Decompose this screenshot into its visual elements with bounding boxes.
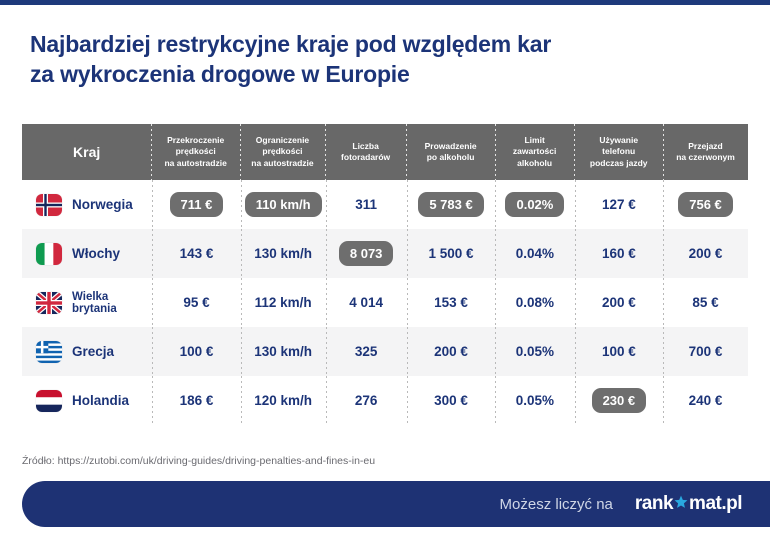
value-cell: 5 783 € <box>407 180 496 229</box>
value-cell: 756 € <box>663 180 748 229</box>
country-name: Grecja <box>72 344 114 359</box>
value-cell: 200 € <box>407 327 496 376</box>
value-cell: 0.02% <box>495 180 574 229</box>
table-row: Grecja100 €130 km/h325200 €0.05%100 €700… <box>22 327 748 376</box>
cell-value: 4 014 <box>349 295 383 310</box>
cell-value: 130 km/h <box>254 246 312 261</box>
cell-value: 0.05% <box>516 344 554 359</box>
cell-value: 276 <box>355 393 378 408</box>
value-cell: 127 € <box>575 180 664 229</box>
country-cell: Norwegia <box>22 180 152 229</box>
cell-value: 200 € <box>689 246 723 261</box>
column-header-4: Prowadzeniepo alkoholu <box>406 124 495 180</box>
flag-uk-icon <box>36 292 62 314</box>
column-header-label: Przejazdna czerwonym <box>676 141 735 164</box>
flag-italy-icon <box>36 243 62 265</box>
cell-value: 200 € <box>434 344 468 359</box>
value-cell: 0.04% <box>495 229 574 278</box>
column-header-7: Przejazdna czerwonym <box>663 124 748 180</box>
value-cell: 8 073 <box>326 229 407 278</box>
logo-text-part1: rank <box>635 493 673 515</box>
cell-value: 100 € <box>180 344 214 359</box>
table-row: Norwegia711 €110 km/h3115 783 €0.02%127 … <box>22 180 748 229</box>
table-header-row: KrajPrzekroczenieprędkościna autostradzi… <box>22 124 748 180</box>
column-header-label: Limitzawartościalkoholu <box>513 135 556 169</box>
value-cell: 112 km/h <box>241 278 326 327</box>
column-header-6: Używanietelefonupodczas jazdy <box>574 124 663 180</box>
highlighted-value: 0.02% <box>505 192 564 217</box>
highlighted-value: 8 073 <box>339 241 394 266</box>
country-name: Wielka brytania <box>72 291 152 315</box>
value-cell: 711 € <box>152 180 241 229</box>
column-header-3: Liczbafotoradarów <box>325 124 406 180</box>
column-header-label: Używanietelefonupodczas jazdy <box>590 135 648 169</box>
value-cell: 160 € <box>575 229 664 278</box>
column-header-5: Limitzawartościalkoholu <box>495 124 574 180</box>
value-cell: 240 € <box>663 376 748 425</box>
cell-value: 160 € <box>602 246 636 261</box>
value-cell: 100 € <box>152 327 241 376</box>
cell-value: 112 km/h <box>255 295 312 310</box>
column-header-label: Ograniczenieprędkościna autostradzie <box>251 135 313 169</box>
flag-norway-icon <box>36 194 62 216</box>
value-cell: 100 € <box>575 327 664 376</box>
cell-value: 300 € <box>434 393 468 408</box>
value-cell: 200 € <box>663 229 748 278</box>
highlighted-value: 711 € <box>170 192 224 217</box>
value-cell: 130 km/h <box>241 327 326 376</box>
footer-bar: Możesz liczyć na rank mat.pl <box>22 481 770 527</box>
cell-value: 0.04% <box>516 246 554 261</box>
value-cell: 276 <box>326 376 407 425</box>
page-title-line2: za wykroczenia drogowe w Europie <box>30 60 730 90</box>
value-cell: 95 € <box>152 278 241 327</box>
cell-value: 143 € <box>180 246 214 261</box>
column-header-2: Ograniczenieprędkościna autostradzie <box>240 124 325 180</box>
cell-value: 1 500 € <box>428 246 473 261</box>
column-header-1: Przekroczenieprędkościna autostradzie <box>151 124 240 180</box>
cell-value: 186 € <box>180 393 214 408</box>
cell-value: 85 € <box>692 295 718 310</box>
value-cell: 300 € <box>407 376 496 425</box>
country-cell: Holandia <box>22 376 152 425</box>
cell-value: 0.05% <box>516 393 554 408</box>
page-title: Najbardziej restrykcyjne kraje pod wzglę… <box>30 30 730 90</box>
value-cell: 110 km/h <box>241 180 326 229</box>
highlighted-value: 230 € <box>592 388 647 413</box>
table-row: Włochy143 €130 km/h8 0731 500 €0.04%160 … <box>22 229 748 278</box>
highlighted-value: 756 € <box>678 192 733 217</box>
value-cell: 143 € <box>152 229 241 278</box>
value-cell: 153 € <box>407 278 496 327</box>
column-header-label: Przekroczenieprędkościna autostradzie <box>164 135 226 169</box>
value-cell: 230 € <box>575 376 664 425</box>
table-body: Norwegia711 €110 km/h3115 783 €0.02%127 … <box>22 180 748 425</box>
cell-value: 325 <box>355 344 378 359</box>
value-cell: 700 € <box>663 327 748 376</box>
cell-value: 130 km/h <box>254 344 312 359</box>
source-note: Źródło: https://zutobi.com/uk/driving-gu… <box>22 455 375 467</box>
country-name: Holandia <box>72 393 129 408</box>
star-icon <box>674 493 688 515</box>
value-cell: 130 km/h <box>241 229 326 278</box>
highlighted-value: 110 km/h <box>245 192 322 217</box>
value-cell: 1 500 € <box>407 229 496 278</box>
country-cell: Włochy <box>22 229 152 278</box>
highlighted-value: 5 783 € <box>418 192 483 217</box>
cell-value: 127 € <box>602 197 636 212</box>
value-cell: 0.05% <box>495 327 574 376</box>
column-header-label: Kraj <box>73 143 100 162</box>
value-cell: 200 € <box>575 278 664 327</box>
footer-tagline: Możesz liczyć na <box>500 496 613 513</box>
top-accent-bar <box>0 0 770 5</box>
value-cell: 120 km/h <box>241 376 326 425</box>
cell-value: 120 km/h <box>254 393 312 408</box>
cell-value: 311 <box>355 197 377 212</box>
logo-text-part2: mat.pl <box>689 493 742 515</box>
flag-greece-icon <box>36 341 62 363</box>
cell-value: 100 € <box>602 344 636 359</box>
cell-value: 240 € <box>689 393 723 408</box>
column-header-0: Kraj <box>22 124 151 180</box>
country-cell: Grecja <box>22 327 152 376</box>
column-header-label: Liczbafotoradarów <box>341 141 390 164</box>
flag-netherlands-icon <box>36 390 62 412</box>
column-header-label: Prowadzeniepo alkoholu <box>425 141 477 164</box>
cell-value: 95 € <box>183 295 209 310</box>
cell-value: 700 € <box>689 344 723 359</box>
country-name: Norwegia <box>72 197 133 212</box>
value-cell: 85 € <box>663 278 748 327</box>
value-cell: 0.08% <box>495 278 574 327</box>
page-title-line1: Najbardziej restrykcyjne kraje pod wzglę… <box>30 31 551 57</box>
value-cell: 186 € <box>152 376 241 425</box>
rankomat-logo[interactable]: rank mat.pl <box>635 493 742 515</box>
value-cell: 311 <box>326 180 407 229</box>
table-row: Holandia186 €120 km/h276300 €0.05%230 €2… <box>22 376 748 425</box>
table-row: Wielka brytania95 €112 km/h4 014153 €0.0… <box>22 278 748 327</box>
fines-table: KrajPrzekroczenieprędkościna autostradzi… <box>22 124 748 425</box>
country-cell: Wielka brytania <box>22 278 152 327</box>
value-cell: 325 <box>326 327 407 376</box>
cell-value: 0.08% <box>516 295 554 310</box>
country-name: Włochy <box>72 246 120 261</box>
value-cell: 4 014 <box>326 278 407 327</box>
value-cell: 0.05% <box>495 376 574 425</box>
cell-value: 200 € <box>602 295 636 310</box>
cell-value: 153 € <box>434 295 468 310</box>
